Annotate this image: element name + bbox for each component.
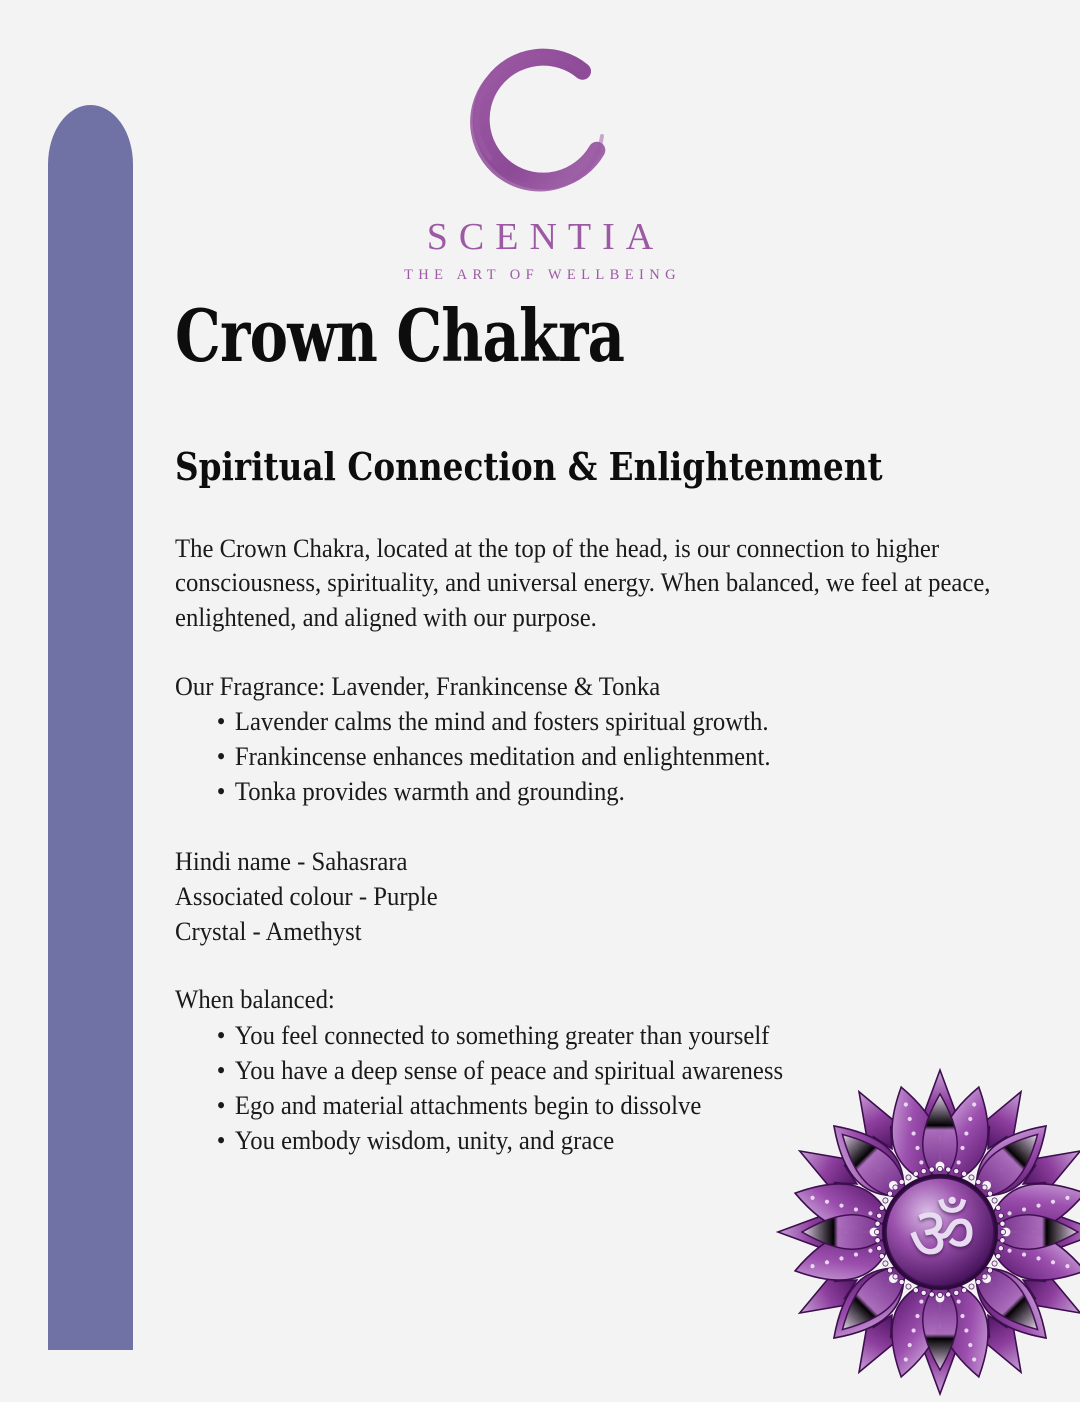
attribute-crystal: Crystal - Amethyst [175,914,1011,949]
list-item: You embody wisdom, unity, and grace [217,1123,1011,1158]
fragrance-heading: Our Fragrance: Lavender, Frankincense & … [175,670,992,705]
brand-tagline: THE ART OF WELLBEING [399,268,681,283]
article-body: The Crown Chakra, located at the top of … [175,488,1055,1158]
brand-logo: SCENTIA THE ART OF WELLBEING [0,40,1080,283]
left-accent-bar [48,105,133,1350]
list-item: You feel connected to something greater … [217,1018,1011,1053]
page-subtitle: Spiritual Connection & Enlightenment [175,372,932,488]
article-content: Crown Chakra Spiritual Connection & Enli… [175,300,1055,1158]
list-item: Frankincense enhances meditation and enl… [217,739,1011,774]
spacer [175,635,1055,670]
fragrance-note-list: Lavender calms the mind and fosters spir… [175,704,1011,809]
list-item: Ego and material attachments begin to di… [217,1088,1011,1123]
attribute-colour: Associated colour - Purple [175,879,1011,914]
list-item: You have a deep sense of peace and spiri… [217,1053,1011,1088]
spacer [175,809,1055,844]
intro-paragraph: The Crown Chakra, located at the top of … [175,532,992,636]
list-item: Tonka provides warmth and grounding. [217,774,1011,809]
balanced-heading: When balanced: [175,983,992,1018]
attribute-hindi-name: Hindi name - Sahasrara [175,844,1011,879]
spacer [175,949,1055,984]
enso-brush-circle-icon [454,40,626,212]
list-item: Lavender calms the mind and fosters spir… [217,704,1011,739]
page-title: Crown Chakra [175,300,879,372]
attribute-list: Hindi name - Sahasrara Associated colour… [175,844,1055,949]
balanced-item-list: You feel connected to something greater … [175,1018,1011,1158]
brand-wordmark: SCENTIA [416,218,664,256]
